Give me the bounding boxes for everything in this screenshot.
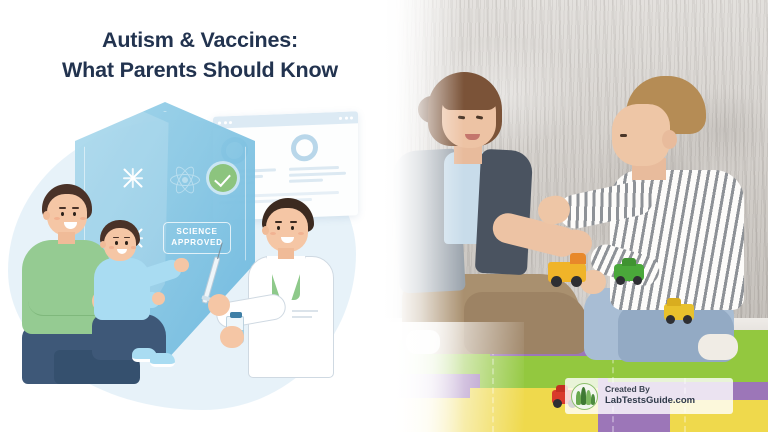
father-eyebrow bbox=[72, 207, 79, 209]
doctor-head bbox=[266, 208, 308, 252]
child-eye bbox=[125, 241, 128, 245]
doctor-figure bbox=[240, 198, 370, 394]
boy-eye bbox=[620, 134, 627, 137]
child-cheek bbox=[109, 246, 114, 249]
watermark-text: Created By LabTestsGuide.com bbox=[605, 384, 695, 407]
headline-line-2: What Parents Should Know bbox=[18, 56, 382, 86]
doctor-eyebrow bbox=[275, 221, 282, 223]
father-cheek bbox=[54, 217, 60, 220]
father-ear bbox=[43, 211, 50, 220]
doctor-ear bbox=[262, 226, 269, 235]
child-torso bbox=[94, 258, 150, 320]
toy-truck-orange bbox=[548, 262, 586, 282]
graphic-canvas: Autism & Vaccines: What Parents Should K… bbox=[0, 0, 768, 432]
father-eye bbox=[61, 212, 64, 216]
toy-car-top bbox=[622, 258, 636, 266]
window-column-right bbox=[289, 130, 353, 185]
toy-wheel bbox=[553, 399, 562, 408]
woman-bangs bbox=[442, 84, 498, 110]
toy-car-green bbox=[614, 264, 644, 281]
child-ear bbox=[100, 241, 106, 248]
father-eyebrow bbox=[59, 207, 66, 209]
watermark-created-by: Created By bbox=[605, 384, 695, 395]
toy-car-top bbox=[667, 298, 681, 306]
watermark-badge: Created By LabTestsGuide.com bbox=[565, 378, 733, 414]
text-line bbox=[289, 179, 324, 183]
toy-wheel bbox=[633, 276, 642, 285]
boy-foot bbox=[698, 334, 738, 360]
window-dots-right bbox=[339, 116, 353, 120]
doctor-eye bbox=[277, 226, 280, 230]
left-title-panel: Autism & Vaccines: What Parents Should K… bbox=[0, 0, 400, 432]
watermark-site-name: LabTestsGuide.com bbox=[605, 395, 695, 407]
boy-ear bbox=[662, 130, 677, 149]
father-neck bbox=[58, 232, 75, 244]
toy-wheel bbox=[616, 276, 625, 285]
toy-wheel bbox=[666, 315, 675, 324]
child-head bbox=[104, 228, 136, 261]
labtestsguide-logo-icon bbox=[571, 383, 598, 410]
toy-truck-cab bbox=[570, 253, 586, 264]
father-eye bbox=[73, 212, 76, 216]
doctor-hand bbox=[220, 326, 244, 348]
woman-foot bbox=[406, 330, 440, 354]
woman-blazer-right bbox=[475, 149, 533, 276]
atom-icon bbox=[170, 165, 200, 195]
headline-line-1: Autism & Vaccines: bbox=[102, 28, 298, 52]
therapy-session-photo bbox=[384, 0, 768, 432]
doctor-cheek bbox=[270, 232, 276, 235]
father-head bbox=[47, 194, 87, 236]
check-circle-icon bbox=[209, 164, 237, 192]
toy-wheel bbox=[571, 276, 582, 287]
doctor-eye bbox=[291, 226, 294, 230]
child-hand bbox=[152, 292, 165, 305]
doctor-neck bbox=[278, 248, 294, 259]
doctor-coat-pocket-line bbox=[292, 316, 312, 318]
page-title: Autism & Vaccines: What Parents Should K… bbox=[0, 26, 400, 85]
doctor-cheek bbox=[298, 232, 304, 235]
doctor-coat-pocket-line bbox=[292, 310, 318, 312]
toy-wheel bbox=[683, 315, 692, 324]
donut-chart-icon bbox=[291, 134, 318, 162]
doctor-hand bbox=[208, 294, 230, 316]
child-hand bbox=[174, 258, 189, 272]
child-cheek bbox=[131, 246, 136, 249]
woman-figure bbox=[384, 24, 596, 360]
child-figure bbox=[86, 220, 198, 380]
toy-car-yellow bbox=[664, 304, 694, 320]
child-eye bbox=[115, 241, 118, 245]
toy-wheel bbox=[551, 276, 562, 287]
text-line bbox=[289, 166, 340, 170]
text-line bbox=[289, 172, 346, 177]
child-shoe bbox=[150, 353, 175, 367]
doctor-eyebrow bbox=[290, 221, 297, 223]
